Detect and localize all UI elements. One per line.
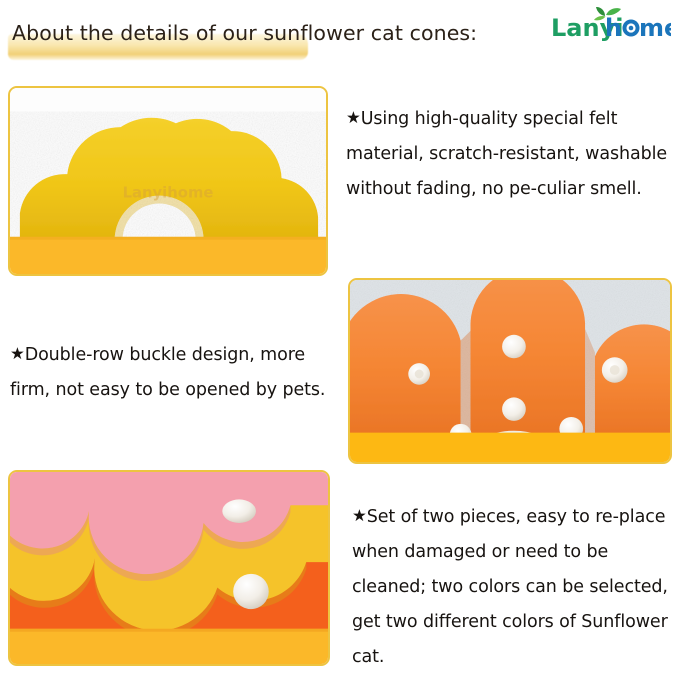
bullet-double-row-buckle-text: Double-row buckle design, more firm, not…: [10, 345, 325, 400]
bullet-double-row-buckle: ★Double-row buckle design, more firm, no…: [10, 336, 342, 408]
lanyihome-logo: Lanyi h me: [551, 6, 671, 44]
photo-layered-pink-yellow-orange-image: [10, 472, 328, 664]
bullet-felt-material-text: Using high-quality special felt material…: [346, 109, 673, 199]
bullet-set-of-two-text: Set of two pieces, easy to re-place when…: [352, 507, 673, 667]
page-title-wrapper: About the details of our sunflower cat c…: [12, 18, 477, 58]
logo-text-tertiary: me: [639, 14, 671, 42]
photo-orange-snap-buttons: [348, 278, 672, 464]
star-icon: ★: [352, 506, 367, 525]
photo-layered-pink-yellow-orange: [8, 470, 330, 666]
page-title: About the details of our sunflower cat c…: [12, 18, 477, 48]
star-icon: ★: [10, 344, 25, 363]
header: About the details of our sunflower cat c…: [0, 0, 679, 78]
house-sun-icon: [623, 20, 640, 37]
photo-yellow-sunflower-cone: Lanyihome: [8, 86, 328, 276]
bullet-felt-material: ★Using high-quality special felt materia…: [346, 100, 672, 207]
infographic-page: About the details of our sunflower cat c…: [0, 0, 679, 679]
logo-text-secondary: h: [605, 14, 622, 42]
photo-watermark: Lanyihome: [123, 185, 214, 202]
photo-orange-snap-buttons-image: [350, 280, 670, 462]
star-icon: ★: [346, 108, 361, 127]
bullet-set-of-two: ★Set of two pieces, easy to re-place whe…: [352, 498, 674, 675]
photo-yellow-sunflower-cone-image: Lanyihome: [10, 88, 326, 274]
